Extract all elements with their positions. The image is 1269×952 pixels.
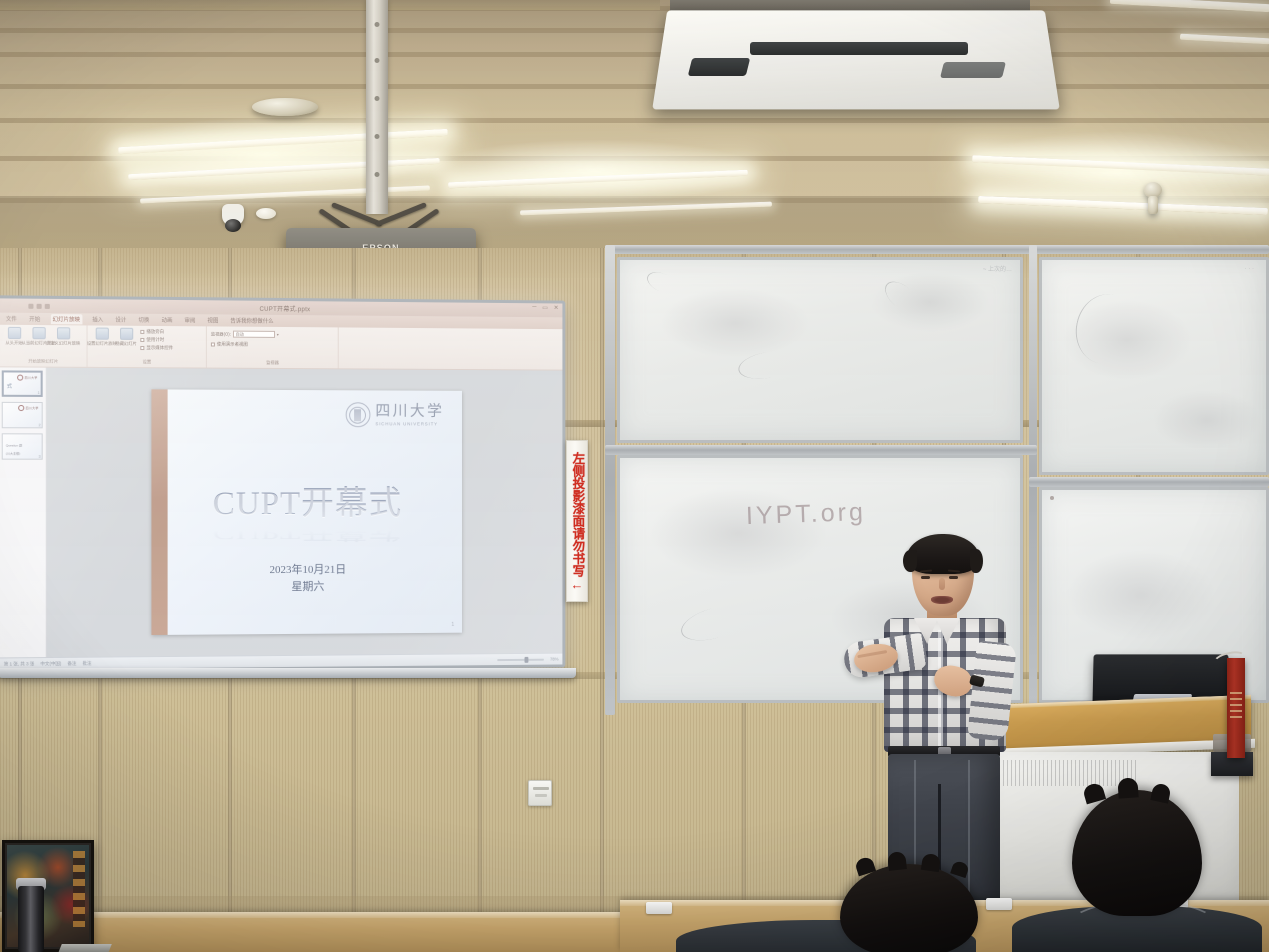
thumb-logo: 四川大学 xyxy=(18,405,38,411)
slide-thumbnail-pane[interactable]: 四川大学 式 1 四川大学 2 Question 题 (川大主楼) 3 xyxy=(0,367,47,657)
monitor-select[interactable]: 自动 xyxy=(233,331,275,338)
ceiling-light-tube xyxy=(1180,34,1269,45)
powerpoint-window: CUPT开幕式.pptx ─ ▭ ✕ 文件 开始 幻灯片放映 插入 设计 切换 … xyxy=(0,298,562,669)
setup-show-icon[interactable] xyxy=(95,328,108,340)
checkbox-icon[interactable] xyxy=(140,330,144,334)
checkbox-icon[interactable] xyxy=(140,346,144,350)
play-from-start-icon[interactable] xyxy=(7,327,20,339)
ribbon-group-setup: 设置幻灯片放映 隐藏幻灯片 播放旁白 xyxy=(88,325,207,367)
group-label-setup: 设置 xyxy=(92,359,202,366)
slide-canvas[interactable]: 四川大学 SICHUAN UNIVERSITY CUPT开幕式 CUPT开幕式 … xyxy=(47,368,563,657)
check-presenter-view[interactable]: 使用演示者视图 xyxy=(211,341,334,348)
desk-clip xyxy=(986,898,1012,910)
presenter-hair xyxy=(906,534,980,574)
whiteboard-faint-note: ~ 上次的… xyxy=(983,264,1012,273)
tab-view[interactable]: 视图 xyxy=(205,315,220,325)
play-current-icon[interactable] xyxy=(32,327,45,339)
redo-icon[interactable] xyxy=(45,303,50,308)
tab-design[interactable]: 设计 xyxy=(113,315,128,325)
security-camera-icon xyxy=(222,204,244,226)
slide-indicator: 第 1 张, 共 3 张 xyxy=(4,661,35,667)
whiteboard-panel-right-upper: · · · xyxy=(1039,257,1269,475)
language-indicator[interactable]: 中文(中国) xyxy=(40,660,61,666)
document-title: CUPT开幕式.pptx xyxy=(260,303,311,312)
sichuan-university-seal-icon xyxy=(346,402,371,427)
warning-arrow-icon: ← xyxy=(571,578,584,591)
vacuum-flask xyxy=(18,886,44,952)
chevron-down-icon[interactable]: ▾ xyxy=(277,332,279,337)
thumb-logo: 四川大学 xyxy=(17,375,37,381)
btn-hide-slide[interactable]: 隐藏幻灯片 xyxy=(116,328,136,347)
custom-show-icon[interactable] xyxy=(56,327,69,339)
logo-english-name: SICHUAN UNIVERSITY xyxy=(375,421,444,426)
notes-button[interactable]: 备注 xyxy=(67,660,76,666)
air-conditioner-unit xyxy=(660,6,1052,110)
ceiling-speaker-icon xyxy=(252,98,318,116)
presenter-mouth xyxy=(931,596,953,604)
hide-slide-icon[interactable] xyxy=(120,328,133,340)
whiteboard-faint-mark: · · · xyxy=(1245,266,1254,272)
presenter xyxy=(826,534,1026,902)
comments-button[interactable]: 批注 xyxy=(83,660,92,666)
whiteboard-panel-left-upper: ~ 上次的… xyxy=(617,257,1023,443)
checkbox-icon[interactable] xyxy=(140,338,144,342)
tab-animations[interactable]: 动画 xyxy=(159,315,174,325)
tab-home[interactable]: 开始 xyxy=(27,314,42,324)
sichuan-university-seal-icon xyxy=(18,405,24,411)
projection-screen: CUPT开幕式.pptx ─ ▭ ✕ 文件 开始 幻灯片放映 插入 设计 切换 … xyxy=(0,295,565,672)
check-use-timings[interactable]: 使用计时 xyxy=(140,337,173,343)
ceiling xyxy=(0,0,1269,250)
slide-weekday: 星期六 xyxy=(151,578,462,597)
ceiling-light-dome-icon xyxy=(1148,196,1158,214)
screen-bottom-trim xyxy=(0,668,576,678)
group-label-monitors: 监视器 xyxy=(211,360,334,367)
zoom-slider[interactable] xyxy=(497,658,544,660)
btn-setup-show[interactable]: 设置幻灯片放映 xyxy=(92,328,112,347)
poster-side-strip xyxy=(73,851,85,927)
close-icon[interactable]: ✕ xyxy=(554,304,559,311)
group-label-start-show: 开始放映幻灯片 xyxy=(4,358,83,365)
warning-sign-text: 左侧投影漆面请勿书写 xyxy=(571,452,584,577)
monitor-select-row[interactable]: 监视器(O): 自动 ▾ xyxy=(211,330,334,338)
slide-date-block: 2023年10月21日 星期六 xyxy=(151,561,462,597)
thumb-line-2: (川大主楼) xyxy=(6,452,20,456)
thumbnail-slide-1[interactable]: 四川大学 式 1 xyxy=(2,370,43,397)
slide-title: CUPT开幕式 xyxy=(151,476,462,524)
desk-clip xyxy=(646,902,672,914)
ribbon[interactable]: 从头开始 从当前幻灯片开始 自定义幻灯片放映 开始放映幻灯片 xyxy=(0,325,562,371)
tab-file[interactable]: 文件 xyxy=(4,314,19,324)
tab-insert[interactable]: 插入 xyxy=(90,314,105,324)
ribbon-group-monitors: 监视器(O): 自动 ▾ 使用演示者视图 监视器 xyxy=(207,326,339,368)
ceiling-light-tube xyxy=(448,170,748,189)
warning-sign: 左侧投影漆面请勿书写 ← xyxy=(566,440,588,602)
thumb-number: 2 xyxy=(39,423,41,427)
undo-icon[interactable] xyxy=(37,303,42,308)
tab-tell-me[interactable]: 告诉我你想做什么 xyxy=(228,316,275,326)
restore-icon[interactable]: ▭ xyxy=(542,304,548,311)
slide-page-number: 1 xyxy=(451,622,454,628)
thumb-number: 3 xyxy=(39,455,41,459)
quick-access-toolbar[interactable] xyxy=(28,303,49,308)
thumb-number: 1 xyxy=(38,391,40,395)
btn-custom-show[interactable]: 自定义幻灯片放映 xyxy=(53,327,73,346)
checkbox-icon[interactable] xyxy=(211,342,215,346)
lecture-hall-photo: EPSON xyxy=(0,0,1269,952)
display-poster-board xyxy=(2,840,94,952)
tab-review[interactable]: 审阅 xyxy=(182,315,197,325)
slide-date: 2023年10月21日 xyxy=(151,561,462,579)
zoom-level[interactable]: 78% xyxy=(550,657,559,662)
slide-title-reflection: CUPT开幕式 xyxy=(151,523,462,548)
ribbon-group-start-show: 从头开始 从当前幻灯片开始 自定义幻灯片放映 开始放映幻灯片 xyxy=(0,325,88,367)
poster-stand-base xyxy=(58,944,112,952)
projector-mount-pole xyxy=(366,0,388,214)
red-book xyxy=(1227,658,1245,758)
window-controls[interactable]: ─ ▭ ✕ xyxy=(532,304,558,311)
monitor-field-label: 监视器(O): xyxy=(211,331,231,337)
check-play-narration[interactable]: 播放旁白 xyxy=(140,329,173,335)
minimize-icon[interactable]: ─ xyxy=(532,304,536,311)
save-icon[interactable] xyxy=(28,303,33,308)
wall-outlet xyxy=(528,780,552,806)
thumb-line-1: Question 题 xyxy=(6,443,22,447)
whiteboard-magnet-icon xyxy=(1050,496,1054,500)
thumbnail-slide-3[interactable]: Question 题 (川大主楼) 3 xyxy=(2,433,43,459)
thumb-title: 式 xyxy=(7,383,12,390)
whiteboard-writing: IYPT.org xyxy=(746,498,867,531)
logo-chinese-name: 四川大学 xyxy=(375,404,444,419)
smoke-detector-icon xyxy=(256,208,276,219)
check-show-media-controls[interactable]: 显示媒体控件 xyxy=(140,345,173,351)
tab-transitions[interactable]: 切换 xyxy=(136,315,151,325)
ceiling-light-tube xyxy=(118,129,448,154)
thumbnail-slide-2[interactable]: 四川大学 2 xyxy=(2,402,43,428)
current-slide[interactable]: 四川大学 SICHUAN UNIVERSITY CUPT开幕式 CUPT开幕式 … xyxy=(151,389,462,635)
ceiling-light-tube xyxy=(128,158,440,180)
slide-logo: 四川大学 SICHUAN UNIVERSITY xyxy=(346,402,445,427)
sichuan-university-seal-icon xyxy=(17,375,23,381)
tab-slideshow[interactable]: 幻灯片放映 xyxy=(50,314,82,324)
